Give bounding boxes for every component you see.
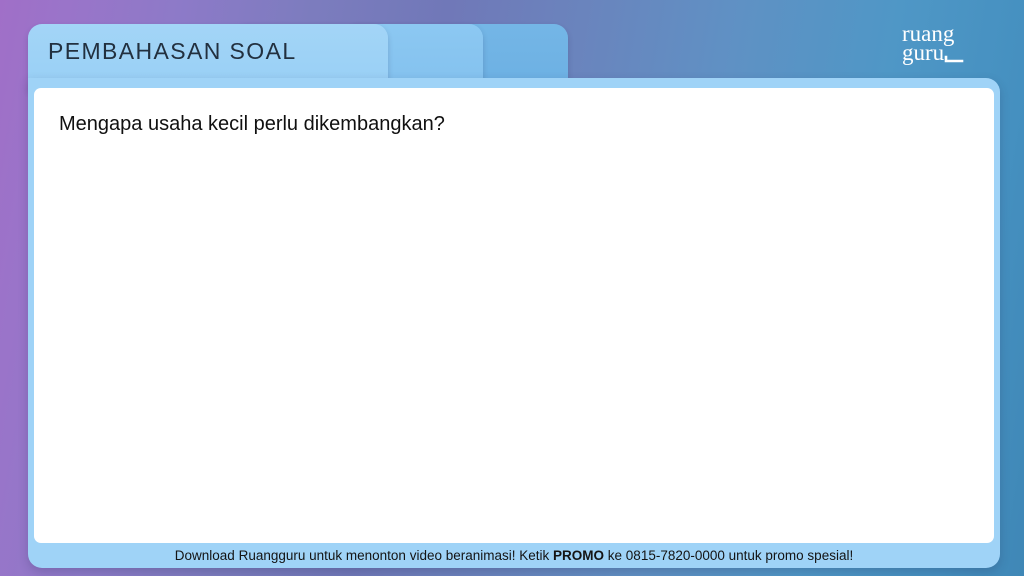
footer-promo-keyword: PROMO (553, 548, 604, 563)
footer-phone-number: 0815-7820-0000 (626, 548, 725, 563)
content-card: Mengapa usaha kecil perlu dikembangkan? … (28, 78, 1000, 568)
promo-footer-banner: Download Ruangguru untuk menonton video … (28, 543, 1000, 568)
footer-text-part3: untuk promo spesial! (725, 548, 853, 563)
page-title: PEMBAHASAN SOAL (48, 38, 297, 65)
white-content-panel: Mengapa usaha kecil perlu dikembangkan? (34, 88, 994, 543)
slide-root: PEMBAHASAN SOAL ruang guru Mengapa usaha… (0, 0, 1024, 576)
ruangguru-logo: ruang guru (900, 20, 996, 66)
footer-text-part2: ke (604, 548, 626, 563)
question-text: Mengapa usaha kecil perlu dikembangkan? (59, 110, 970, 138)
footer-text-part1: Download Ruangguru untuk menonton video … (175, 548, 553, 563)
svg-text:guru: guru (902, 40, 945, 65)
